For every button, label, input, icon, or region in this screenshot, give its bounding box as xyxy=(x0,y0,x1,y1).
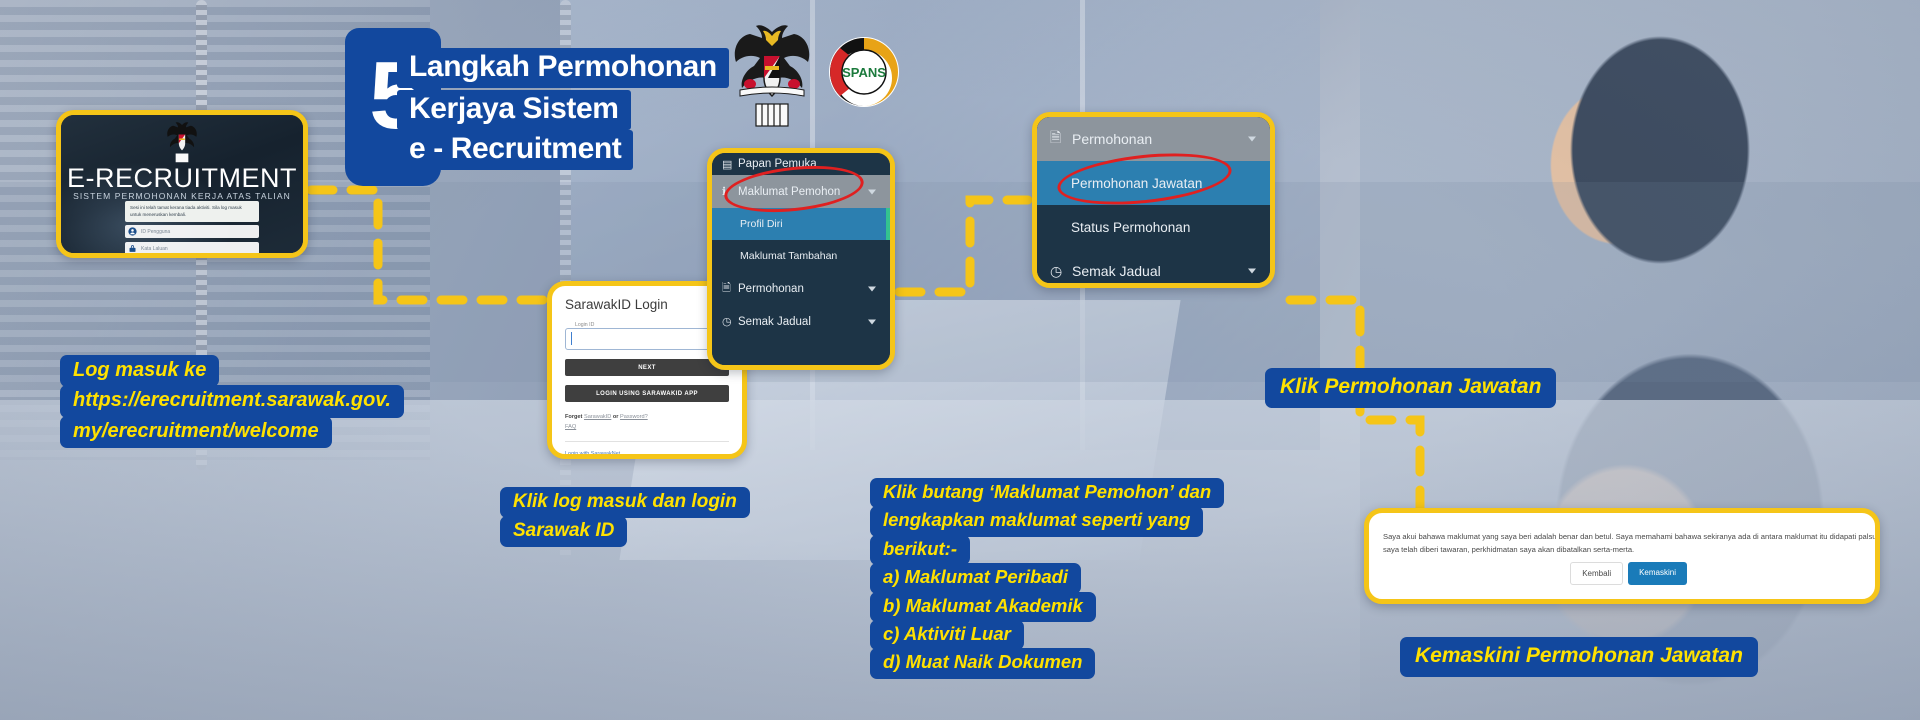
erecruitment-subtitle: SISTEM PERMOHONAN KERJA ATAS TALIAN xyxy=(61,191,303,201)
applicant-menu-panel[interactable]: ▤ Papan Pemuka ℹ Maklumat Pemohon Profil… xyxy=(707,148,895,370)
sidebar-item-papan-pemuka[interactable]: ▤ Papan Pemuka xyxy=(712,153,890,175)
annotation-login-url: Log masuk ke https://erecruitment.sarawa… xyxy=(60,355,404,446)
header-line-1: Langkah Permohonan xyxy=(397,48,729,88)
sidebar-item-permohonan[interactable]: 🗎 Permohonan xyxy=(1037,117,1270,161)
chevron-down-icon xyxy=(868,189,876,194)
annotation-line: c) Aktiviti Luar xyxy=(870,620,1024,650)
sidebar-item-label: Maklumat Tambahan xyxy=(740,250,837,262)
faq-link[interactable]: FAQ xyxy=(565,424,576,430)
forget-mid: or xyxy=(611,414,620,420)
clock-icon: ◷ xyxy=(1050,263,1072,280)
annotation-line: Klik butang ‘Maklumat Pemohon’ dan xyxy=(870,478,1224,508)
dashboard-icon: ▤ xyxy=(722,158,738,171)
sidebar-item-maklumat-tambahan[interactable]: Maklumat Tambahan xyxy=(712,240,890,272)
annotation-line: a) Maklumat Peribadi xyxy=(870,563,1081,593)
password-field[interactable]: Kata Laluan xyxy=(125,242,259,255)
header-line-3: e - Recruitment xyxy=(397,130,633,170)
confirmation-text: Saya akui bahawa maklumat yang saya beri… xyxy=(1383,530,1880,557)
sidebar-item-label: Permohonan xyxy=(738,283,804,295)
chevron-down-icon xyxy=(1248,137,1256,142)
user-id-placeholder: ID Pengguna xyxy=(141,229,170,235)
next-button[interactable]: NEXT xyxy=(565,359,729,376)
annotation-line: Sarawak ID xyxy=(500,516,627,547)
sidebar-item-status-permohonan[interactable]: Status Permohonan xyxy=(1037,205,1270,249)
sidebar-item-label: Papan Pemuka xyxy=(738,158,817,170)
annotation-line: https://erecruitment.sarawak.gov. xyxy=(60,385,404,417)
info-icon: ℹ xyxy=(722,185,738,198)
forget-prefix: Forget xyxy=(565,414,584,420)
annotation-sarawakid: Klik log masuk dan login Sarawak ID xyxy=(500,487,750,545)
login-using-sarawakid-app-button[interactable]: LOGIN USING SARAWAKID APP xyxy=(565,385,729,402)
annotation-line: Kemaskini Permohonan Jawatan xyxy=(1400,637,1758,677)
annotation-kemaskini-permohonan: Kemaskini Permohonan Jawatan xyxy=(1400,637,1758,675)
login-id-input[interactable] xyxy=(565,328,729,350)
footer-links: Login with SarawakNet Don't have an acco… xyxy=(565,449,729,459)
sarawakid-title: SarawakID Login xyxy=(565,297,729,312)
sidebar-item-permohonan[interactable]: 🗎 Permohonan xyxy=(712,272,890,305)
forget-sarawakid-link[interactable]: SarawakID xyxy=(584,414,611,420)
sidebar-item-label: Profil Diri xyxy=(740,218,783,230)
help-links: Forget SarawakID or Password? FAQ xyxy=(565,412,729,433)
login-id-label: Login ID xyxy=(572,322,597,328)
sidebar-item-label: Semak Jadual xyxy=(1072,263,1161,279)
document-icon: 🗎 xyxy=(1050,127,1072,151)
menu-list: ▤ Papan Pemuka ℹ Maklumat Pemohon Profil… xyxy=(712,153,890,365)
chevron-down-icon xyxy=(868,286,876,291)
kemaskini-button[interactable]: Kemaskini xyxy=(1628,562,1687,585)
clock-icon: ◷ xyxy=(722,315,738,328)
annotation-line: d) Muat Naik Dokumen xyxy=(870,648,1095,678)
lock-icon xyxy=(128,244,137,253)
login-id-fieldwrap[interactable]: Login ID xyxy=(565,328,729,350)
spans-logo-icon: SPANS xyxy=(828,36,900,108)
annotation-maklumat-pemohon: Klik butang ‘Maklumat Pemohon’ dan lengk… xyxy=(870,478,1224,677)
active-indicator xyxy=(886,208,890,240)
annotation-line: lengkapkan maklumat seperti yang xyxy=(870,506,1203,536)
dialog-buttons: Kembali Kemaskini xyxy=(1570,562,1687,585)
chevron-down-icon xyxy=(868,319,876,324)
text-caret xyxy=(571,332,572,345)
sidebar-item-label: Semak Jadual xyxy=(738,316,811,328)
chevron-down-icon xyxy=(1248,269,1256,274)
erecruitment-title: E-RECRUITMENT xyxy=(61,163,303,194)
sidebar-item-semak-jadual[interactable]: ◷ Semak Jadual xyxy=(712,305,890,338)
sidebar-item-label: Permohonan xyxy=(1072,131,1152,147)
login-with-sarawaknet-link[interactable]: Login with SarawakNet xyxy=(565,449,729,459)
sidebar-item-profil-diri[interactable]: Profil Diri xyxy=(712,208,890,240)
password-placeholder: Kata Laluan xyxy=(141,246,168,252)
annotation-line: my/erecruitment/welcome xyxy=(60,416,332,448)
permohonan-menu-panel[interactable]: 🗎 Permohonan Permohonan Jawatan Status P… xyxy=(1032,112,1275,288)
annotation-line: b) Maklumat Akademik xyxy=(870,592,1096,622)
sidebar-item-permohonan-jawatan[interactable]: Permohonan Jawatan xyxy=(1037,161,1270,205)
svg-text:SPANS: SPANS xyxy=(842,65,886,80)
header-line-2: Kerjaya Sistem xyxy=(397,90,631,130)
sidebar-item-label: Maklumat Pemohon xyxy=(738,186,840,198)
confirmation-dialog[interactable]: Saya akui bahawa maklumat yang saya beri… xyxy=(1364,508,1880,604)
sidebar-item-label: Permohonan Jawatan xyxy=(1071,176,1202,191)
forget-password-link[interactable]: Password? xyxy=(620,414,648,420)
kembali-button[interactable]: Kembali xyxy=(1570,562,1623,585)
sidebar-item-semak-jadual[interactable]: ◷ Semak Jadual xyxy=(1037,249,1270,288)
forget-line: Forget SarawakID or Password? xyxy=(565,412,729,422)
session-expired-notice: Sesi ini telah tamat kerana tiada aktivi… xyxy=(125,201,259,222)
sidebar-item-maklumat-pemohon[interactable]: ℹ Maklumat Pemohon xyxy=(712,175,890,208)
annotation-line: berikut:- xyxy=(870,535,970,565)
menu-list: 🗎 Permohonan Permohonan Jawatan Status P… xyxy=(1037,117,1270,283)
erecruitment-login-card[interactable]: E-RECRUITMENT SISTEM PERMOHONAN KERJA AT… xyxy=(56,110,308,258)
user-circle-icon xyxy=(128,227,137,236)
divider xyxy=(565,441,729,442)
user-id-field[interactable]: ID Pengguna xyxy=(125,225,259,238)
document-icon: 🗎 xyxy=(722,279,738,298)
sidebar-item-label: Status Permohonan xyxy=(1071,220,1190,235)
annotation-line: Log masuk ke xyxy=(60,355,219,387)
annotation-line: Klik log masuk dan login xyxy=(500,487,750,518)
annotation-klik-permohonan-jawatan: Klik Permohonan Jawatan xyxy=(1265,368,1556,406)
sarawak-coat-of-arms-icon xyxy=(730,22,814,138)
annotation-line: Klik Permohonan Jawatan xyxy=(1265,368,1556,408)
sarawak-coat-of-arms-icon xyxy=(162,121,202,167)
